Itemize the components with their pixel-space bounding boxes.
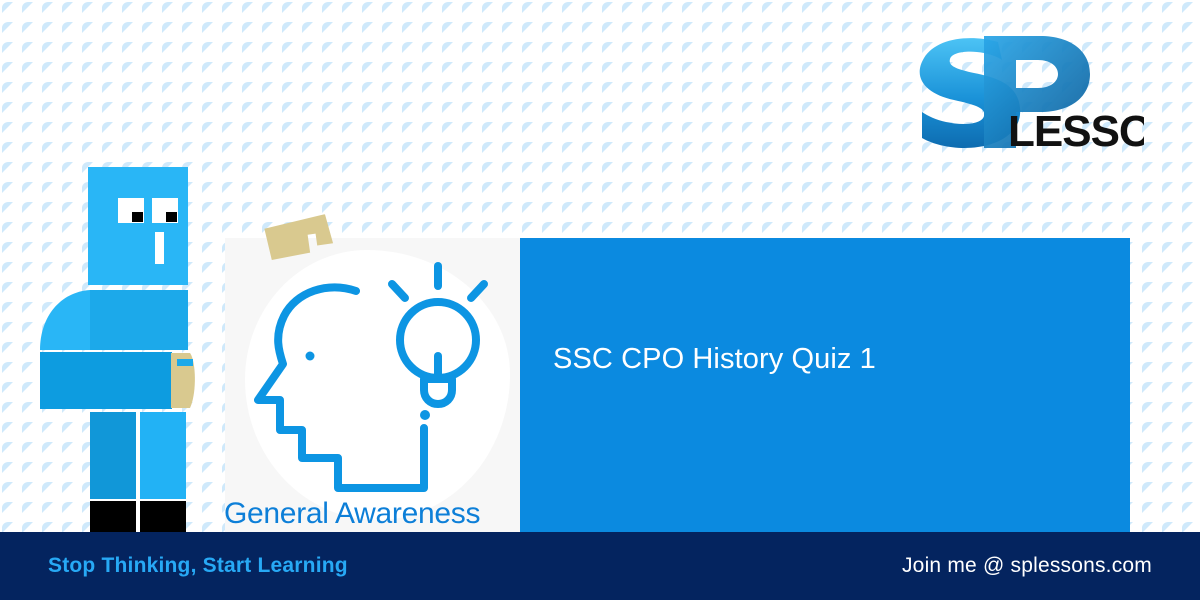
footer-join-link[interactable]: Join me @ splessons.com [902,554,1152,578]
subject-label: General Awareness [224,495,524,533]
quiz-title-panel: SSC CPO History Quiz 1 [520,238,1130,532]
head-with-lightbulb-icon [252,248,512,510]
footer-tagline: Stop Thinking, Start Learning [48,554,348,578]
splessons-logo[interactable]: LESSONS [912,26,1144,151]
logo-wordmark: LESSONS [1008,107,1144,151]
footer-bar: Stop Thinking, Start Learning Join me @ … [0,532,1200,600]
quiz-promo-banner: General Awareness SSC CPO History Quiz 1 [0,0,1200,600]
quiz-title: SSC CPO History Quiz 1 [553,343,876,376]
mascot-figure [40,165,225,532]
